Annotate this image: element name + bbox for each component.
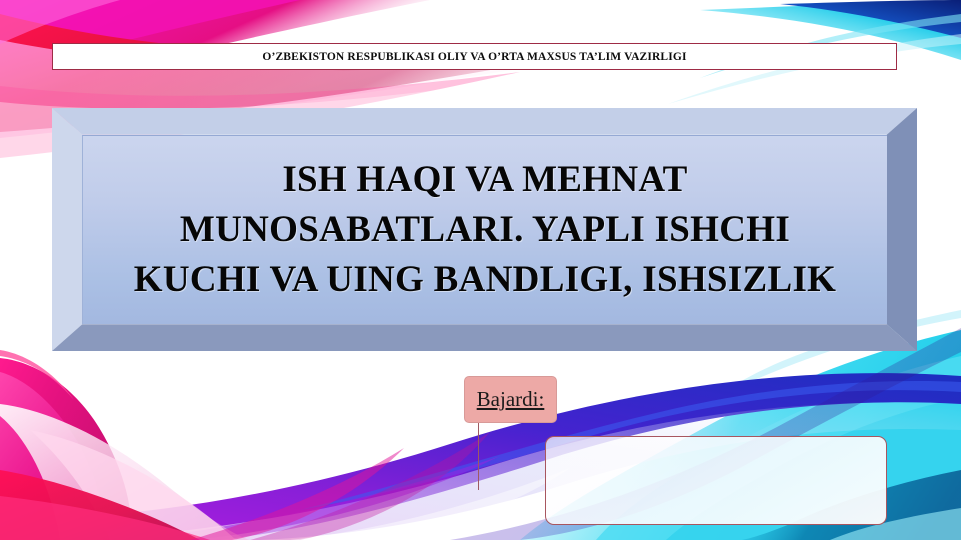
ministry-header-banner: O’ZBEKISTON RESPUBLIKASI OLIY VA O’RTA M… [52,43,897,70]
wave-bottom-left [0,350,490,540]
slide-title-line-3: KUCHI VA UING BANDLIGI, ISHSIZLIK [134,255,837,305]
callout-connector-line [478,420,479,490]
presentation-slide: O’ZBEKISTON RESPUBLIKASI OLIY VA O’RTA M… [0,0,961,540]
ministry-header-text: O’ZBEKISTON RESPUBLIKASI OLIY VA O’RTA M… [262,51,686,63]
title-frame: ISH HAQI VA MEHNAT MUNOSABATLARI. YAPLI … [52,108,917,351]
presenter-name-box[interactable] [545,436,887,525]
presenter-label-callout: Bajardi: [464,376,557,423]
presenter-label-text: Bajardi: [477,387,545,412]
slide-title-line-2: MUNOSABATLARI. YAPLI ISHCHI [180,205,790,255]
slide-title-block: ISH HAQI VA MEHNAT MUNOSABATLARI. YAPLI … [82,135,886,325]
slide-title-line-1: ISH HAQI VA MEHNAT [282,155,687,205]
